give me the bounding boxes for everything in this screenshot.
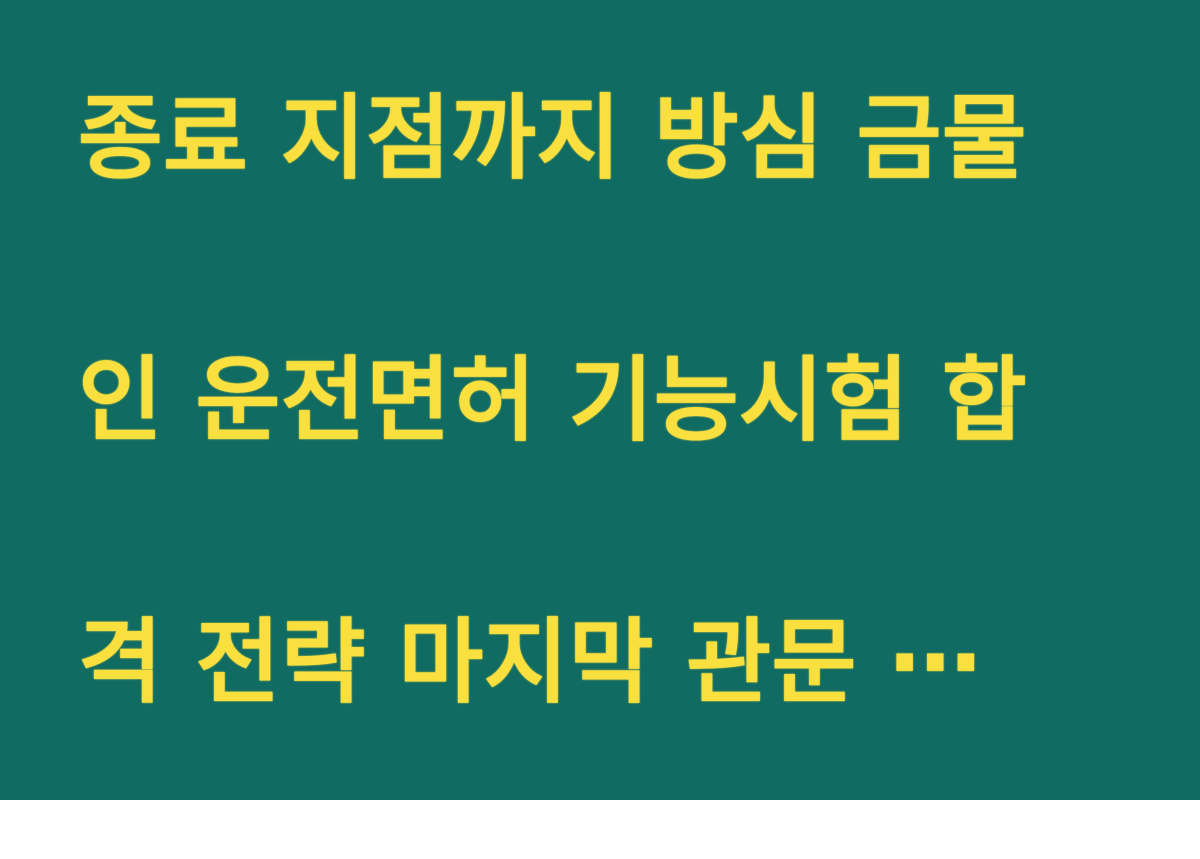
headline-line-3: 격 전략 마지막 관문 ⋯ xyxy=(78,597,1027,728)
text-card: 종료 지점까지 방심 금물 인 운전면허 기능시험 합 격 전략 마지막 관문 … xyxy=(0,0,1200,800)
headline-line-1: 종료 지점까지 방심 금물 xyxy=(78,73,1027,204)
headline-text: 종료 지점까지 방심 금물 인 운전면허 기능시험 합 격 전략 마지막 관문 … xyxy=(78,0,1027,859)
headline-line-2: 인 운전면허 기능시험 합 xyxy=(78,335,1027,466)
